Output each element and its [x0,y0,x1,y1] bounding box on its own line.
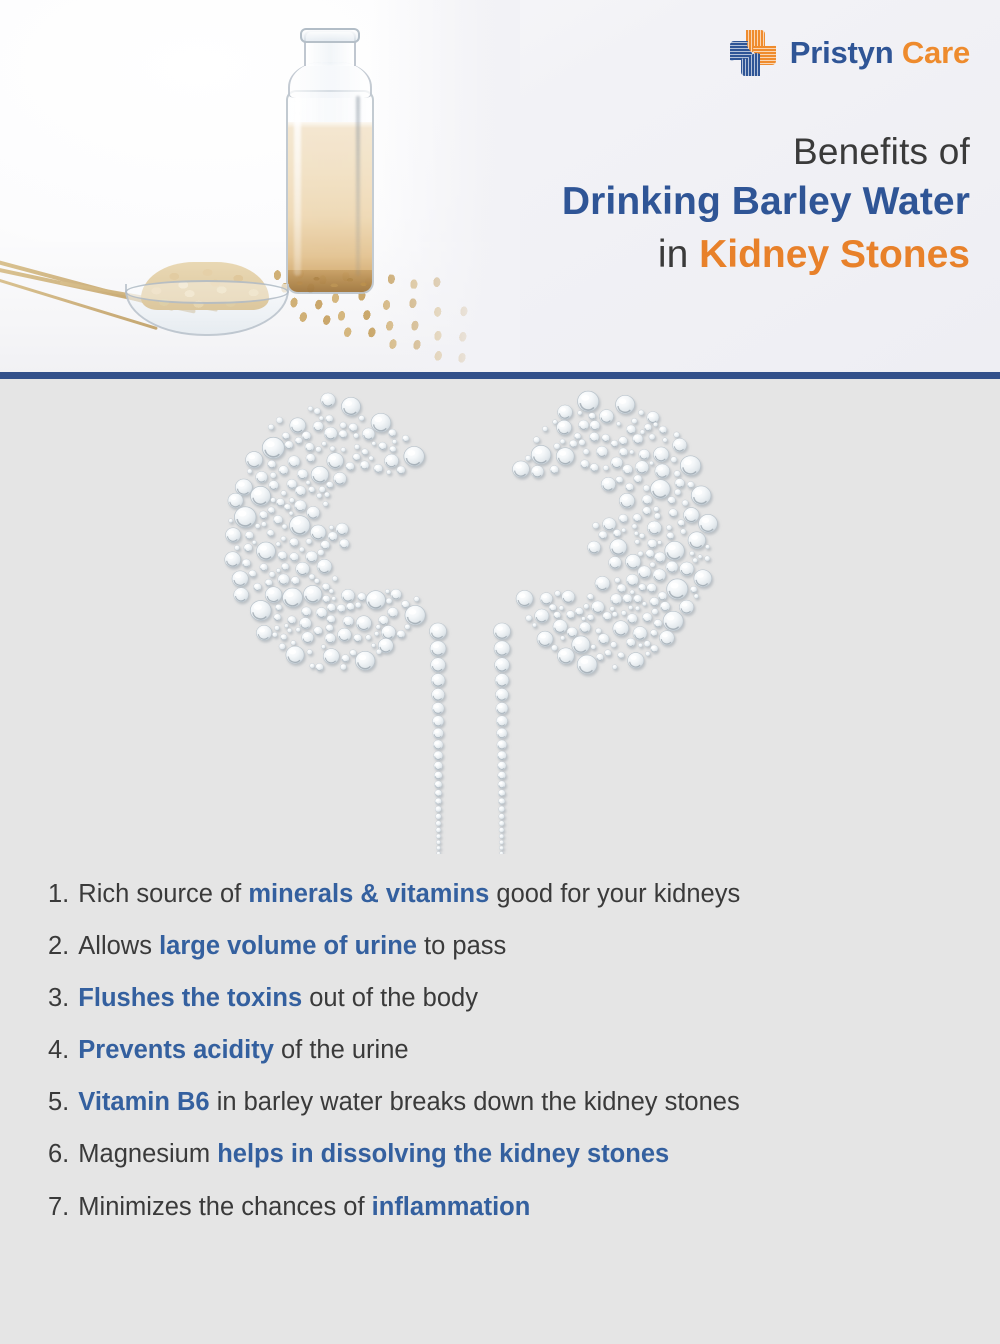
bottle-shoulder [288,62,372,98]
brand-logo[interactable]: Pristyn Care [728,28,970,78]
body-section: 1.Rich source of minerals & vitamins goo… [0,379,1000,1344]
benefit-item: 7.Minimizes the chances of inflammation [48,1192,978,1223]
benefit-plain: good for your kidneys [489,880,740,908]
benefit-highlight: large volume of urine [159,932,417,960]
benefit-plain: in barley water breaks down the kidney s… [210,1088,740,1116]
benefit-text: Minimizes the chances of inflammation [78,1192,530,1223]
benefit-highlight: Prevents acidity [78,1036,274,1064]
benefit-item: 3.Flushes the toxins out of the body [48,983,978,1014]
benefit-text: Magnesium helps in dissolving the kidney… [78,1139,669,1170]
title-highlight-kidney-stones: Kidney Stones [699,233,970,276]
benefits-list: 1.Rich source of minerals & vitamins goo… [48,879,978,1244]
benefit-highlight: helps in dissolving the kidney stones [217,1140,669,1168]
benefit-item: 6.Magnesium helps in dissolving the kidn… [48,1139,978,1170]
page-title: Benefits of Drinking Barley Water in Kid… [330,128,970,281]
benefit-plain: to pass [417,932,506,960]
benefit-number: 7. [48,1192,69,1223]
benefit-plain: out of the body [302,984,478,1012]
benefit-number: 4. [48,1035,69,1066]
benefit-item: 1.Rich source of minerals & vitamins goo… [48,879,978,910]
benefit-plain: Rich source of [78,880,248,908]
benefit-text: Allows large volume of urine to pass [78,931,506,962]
benefit-text: Rich source of minerals & vitamins good … [78,879,740,910]
benefit-item: 4.Prevents acidity of the urine [48,1035,978,1066]
benefit-item: 5.Vitamin B6 in barley water breaks down… [48,1087,978,1118]
title-line-benefits-of: Benefits of [330,128,970,175]
header-divider [0,372,1000,379]
glass-bowl-barley-grains [125,262,285,336]
benefit-plain: of the urine [274,1036,409,1064]
benefit-plain: Allows [78,932,159,960]
benefit-text: Flushes the toxins out of the body [78,983,478,1014]
benefit-item: 2.Allows large volume of urine to pass [48,931,978,962]
title-line-in-kidney-stones: in Kidney Stones [330,230,970,281]
benefit-highlight: minerals & vitamins [248,880,489,908]
benefit-plain: Magnesium [78,1140,217,1168]
benefit-number: 5. [48,1087,69,1118]
benefit-number: 3. [48,983,69,1014]
benefit-number: 6. [48,1139,69,1170]
title-line-drinking-barley-water: Drinking Barley Water [330,177,970,228]
bottle-lip [300,28,360,43]
brand-name-part1: Pristyn [790,35,894,70]
benefit-highlight: Flushes the toxins [78,984,302,1012]
kidneys-droplet-illustration [215,384,725,854]
header-banner: Pristyn Care Benefits of Drinking Barley… [0,0,1000,372]
benefit-text: Prevents acidity of the urine [78,1035,408,1066]
benefit-number: 2. [48,931,69,962]
benefit-highlight: inflammation [372,1193,531,1221]
infographic-poster: Pristyn Care Benefits of Drinking Barley… [0,0,1000,1344]
title-prefix-in: in [658,233,688,276]
brand-name: Pristyn Care [790,35,970,71]
benefit-plain: Minimizes the chances of [78,1193,371,1221]
pristyn-pinwheel-cross-icon [728,28,778,78]
kidneys-droplet-svg [215,384,725,854]
brand-name-part2: Care [902,35,970,70]
bowl-rim [125,280,289,304]
benefit-highlight: Vitamin B6 [78,1088,209,1116]
bottle-highlight [294,96,301,276]
benefit-text: Vitamin B6 in barley water breaks down t… [78,1087,739,1118]
benefit-number: 1. [48,879,69,910]
